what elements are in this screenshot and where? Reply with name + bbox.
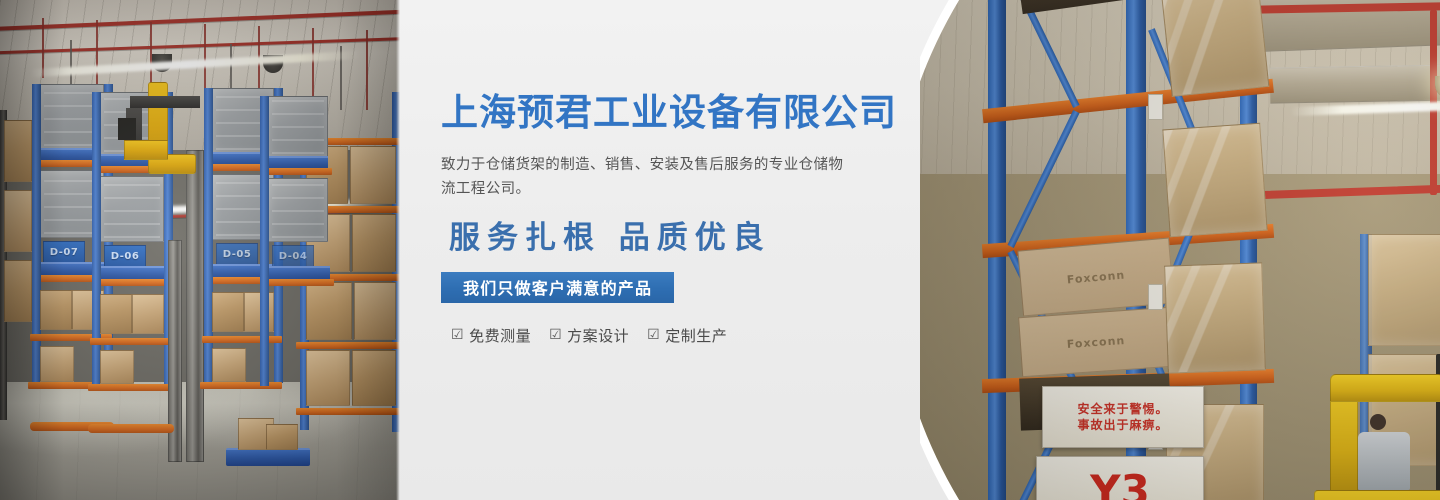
checkbox-checked-icon: ☑ [451, 328, 464, 342]
stacker-mast [186, 150, 204, 462]
checkbox-checked-icon: ☑ [647, 328, 660, 342]
company-subtitle: 致力于仓储货架的制造、销售、安装及售后服务的专业仓储物流工程公司。 [441, 153, 853, 203]
rack-beam [296, 342, 400, 349]
feature-list: ☑ 免费测量 ☑ 方案设计 ☑ 定制生产 [451, 325, 911, 346]
rack-label: D-07 [43, 241, 85, 263]
drop-rod [366, 30, 368, 110]
hero-banner: D-07 D-06 [0, 0, 1440, 500]
forklift-chassis [1314, 490, 1440, 500]
checkbox-checked-icon: ☑ [549, 328, 562, 342]
box-label [1148, 284, 1163, 310]
feature-label: 方案设计 [567, 325, 629, 346]
air-duct [1270, 60, 1440, 103]
carton [306, 282, 352, 340]
forklift-overhead-guard [1330, 374, 1440, 402]
safety-sign: 安全来于警惕。 事故出于麻痹。 [1042, 386, 1204, 448]
aisle-sign: Y3 [1036, 456, 1204, 500]
carton [352, 214, 396, 272]
rack-label: D-05 [216, 243, 258, 265]
crane-frame [130, 96, 200, 108]
feature-label: 免费测量 [469, 325, 531, 346]
right-warehouse-photo: Foxconn Foxconn Foxconn Foxconn [920, 0, 1440, 500]
feature-label: 定制生产 [665, 325, 727, 346]
wrapped-pallet [1164, 262, 1266, 373]
feature-item-custom-production: ☑ 定制生产 [647, 325, 727, 346]
carton [4, 260, 32, 322]
floor-pallet [226, 448, 310, 466]
right-warehouse-photo-wrap: Foxconn Foxconn Foxconn Foxconn [920, 0, 1440, 500]
cta-button[interactable]: 我们只做客户满意的产品 [441, 272, 674, 303]
safety-sign-line-1: 安全来于警惕。 [1077, 401, 1168, 417]
wrapped-pallet [1161, 0, 1270, 97]
aisle-sign-label: Y3 [1090, 466, 1150, 500]
crane-cab-window [118, 118, 136, 140]
rack-beam [296, 408, 400, 415]
carton [306, 350, 350, 406]
left-warehouse-photo: D-07 D-06 [0, 0, 400, 500]
carton [4, 120, 32, 182]
photo-edge-fade [396, 0, 400, 500]
feature-item-plan-design: ☑ 方案设计 [549, 325, 629, 346]
safety-sign-line-2: 事故出于麻痹。 [1077, 417, 1168, 433]
carton [350, 146, 396, 204]
wrapped-pallet [1162, 123, 1267, 238]
operator-head [1370, 414, 1386, 430]
carton: Foxconn [1018, 307, 1174, 377]
company-title: 上海预君工业设备有限公司 [441, 92, 911, 135]
crane-frame [124, 140, 168, 160]
carton [4, 190, 32, 252]
carton [266, 424, 298, 450]
wrapped-pallet [1368, 234, 1440, 346]
rack-label: D-04 [272, 245, 314, 267]
carton [354, 282, 396, 340]
rack-foot [88, 424, 174, 433]
banner-copy: 上海预君工业设备有限公司 致力于仓储货架的制造、销售、安装及售后服务的专业仓储物… [441, 92, 911, 346]
rack-label: D-06 [104, 245, 146, 267]
feature-item-free-measure: ☑ 免费测量 [451, 325, 531, 346]
carton [352, 350, 396, 406]
box-label [1148, 94, 1163, 120]
company-slogan: 服务扎根 品质优良 [449, 220, 911, 257]
forklift-operator [1358, 432, 1410, 490]
